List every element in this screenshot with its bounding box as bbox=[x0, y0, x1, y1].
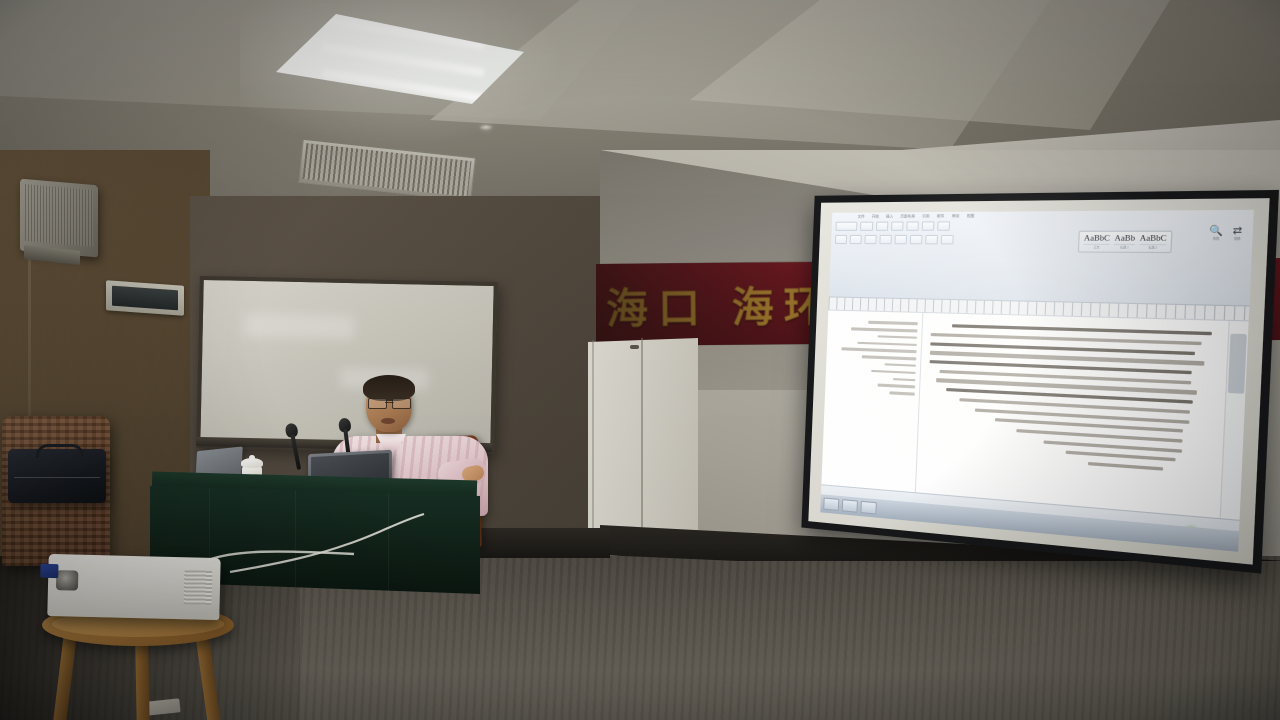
style-heading-1-label: 标题 1 bbox=[1114, 244, 1135, 250]
align-center-button[interactable] bbox=[879, 235, 891, 244]
style-normal[interactable]: AaBbC 正文 bbox=[1084, 234, 1111, 249]
underline-button[interactable] bbox=[906, 221, 919, 230]
nav-pane-line bbox=[893, 378, 916, 382]
nav-pane-line bbox=[877, 384, 915, 388]
stool-leg bbox=[135, 638, 150, 720]
align-right-button[interactable] bbox=[894, 235, 907, 244]
door-edge bbox=[592, 340, 594, 536]
door-split-line bbox=[641, 338, 643, 536]
style-heading-2-sample: AaBbC bbox=[1140, 234, 1167, 242]
style-normal-sample: AaBbC bbox=[1084, 234, 1110, 242]
projector-connector bbox=[40, 564, 58, 578]
style-heading-2-label: 标题 2 bbox=[1139, 244, 1166, 250]
ribbon-row-font[interactable] bbox=[832, 218, 1254, 233]
nav-pane-line bbox=[851, 327, 918, 332]
conference-room-photo: 海口 海环院 环境 文件 开始 插入 页面布局 bbox=[0, 0, 1280, 720]
borders-button[interactable] bbox=[925, 235, 938, 244]
wooden-stool bbox=[42, 604, 234, 720]
align-left-button[interactable] bbox=[864, 235, 876, 244]
teacup-knob bbox=[249, 455, 255, 460]
font-size-dropdown[interactable] bbox=[860, 222, 873, 231]
document-text-line bbox=[1088, 462, 1164, 471]
find-button-label: 查找 bbox=[1213, 238, 1220, 241]
skirt-fold bbox=[295, 486, 296, 594]
numbering-button[interactable] bbox=[850, 235, 862, 244]
taskbar-item[interactable] bbox=[860, 501, 876, 515]
speaker-grill bbox=[25, 184, 93, 247]
replace-button[interactable]: ⇄ 替换 bbox=[1229, 225, 1246, 241]
glasses-icon bbox=[368, 398, 411, 407]
stool-leg bbox=[52, 634, 77, 720]
ribbon-tab-file[interactable]: 文件 bbox=[858, 215, 865, 220]
line-spacing-button[interactable] bbox=[910, 235, 923, 244]
swap-icon: ⇄ bbox=[1229, 225, 1246, 236]
nav-pane-line bbox=[877, 335, 917, 339]
word-ribbon[interactable]: 文件 开始 插入 页面布局 引用 邮件 审阅 视图 bbox=[829, 210, 1254, 307]
style-heading-2[interactable]: AaBbC 标题 2 bbox=[1139, 234, 1167, 250]
wall-vent-panel-inner bbox=[112, 286, 178, 311]
navigation-pane[interactable] bbox=[821, 311, 923, 493]
nav-pane-line bbox=[868, 321, 918, 325]
scrollbar-thumb[interactable] bbox=[1228, 333, 1247, 393]
find-button[interactable]: 🔍 查找 bbox=[1208, 225, 1225, 241]
bold-button[interactable] bbox=[876, 222, 888, 231]
bag-handle bbox=[36, 444, 84, 458]
style-normal-label: 正文 bbox=[1084, 244, 1110, 250]
font-family-dropdown[interactable] bbox=[835, 222, 857, 231]
taskbar-item[interactable] bbox=[823, 497, 839, 511]
style-heading-1-sample: AaBb bbox=[1114, 234, 1135, 242]
style-gallery[interactable]: AaBbC 正文 AaBb 标题 1 AaBbC 标题 2 bbox=[1078, 231, 1173, 253]
italic-button[interactable] bbox=[891, 222, 904, 231]
skirt-fold bbox=[388, 486, 389, 594]
projector bbox=[47, 554, 220, 620]
document-text-line bbox=[1065, 451, 1175, 462]
taskbar-item[interactable] bbox=[842, 499, 858, 513]
document-text-line bbox=[1044, 440, 1182, 452]
bag-zipper bbox=[14, 477, 100, 478]
bullets-button[interactable] bbox=[835, 235, 847, 244]
door-knob-icon[interactable] bbox=[630, 345, 639, 349]
ribbon-tab-review[interactable]: 审阅 bbox=[952, 214, 960, 219]
projection-screen[interactable]: 文件 开始 插入 页面布局 引用 邮件 审阅 视图 bbox=[801, 190, 1279, 574]
ribbon-tab-mailings[interactable]: 邮件 bbox=[937, 214, 945, 219]
nav-pane-line bbox=[842, 348, 917, 353]
ribbon-tab-references[interactable]: 引用 bbox=[922, 214, 930, 219]
search-icon: 🔍 bbox=[1208, 225, 1225, 236]
white-double-door[interactable] bbox=[588, 338, 698, 538]
ribbon-tab-home[interactable]: 开始 bbox=[872, 214, 879, 219]
word-window[interactable]: 文件 开始 插入 页面布局 引用 邮件 审阅 视图 bbox=[820, 210, 1254, 552]
highlight-button[interactable] bbox=[937, 221, 950, 230]
replace-button-label: 替换 bbox=[1234, 238, 1241, 241]
style-heading-1[interactable]: AaBb 标题 1 bbox=[1114, 234, 1135, 250]
ribbon-tab-view[interactable]: 视图 bbox=[967, 214, 975, 219]
glasses-lens-right bbox=[392, 398, 411, 409]
document-page[interactable] bbox=[916, 313, 1228, 518]
projector-lens-icon bbox=[56, 570, 78, 591]
ribbon-row-paragraph[interactable] bbox=[831, 233, 1253, 248]
glasses-lens-left bbox=[368, 398, 387, 409]
word-document-area[interactable] bbox=[821, 311, 1248, 520]
nav-pane-line bbox=[861, 355, 916, 360]
nav-pane-line bbox=[871, 370, 916, 375]
shading-button[interactable] bbox=[941, 235, 954, 244]
projector-vent bbox=[184, 570, 213, 605]
stool-leg bbox=[195, 634, 221, 720]
ribbon-editing-group[interactable]: 🔍 查找 ⇄ 替换 bbox=[1208, 225, 1246, 241]
laptop-bag bbox=[8, 449, 106, 503]
projection-screen-surface: 文件 开始 插入 页面布局 引用 邮件 审阅 视图 bbox=[820, 210, 1254, 552]
nav-pane-line bbox=[885, 363, 916, 367]
nav-pane-line bbox=[857, 341, 917, 346]
speaker-mouth bbox=[381, 418, 395, 424]
ribbon-tab-insert[interactable]: 插入 bbox=[886, 214, 893, 219]
font-color-button[interactable] bbox=[922, 221, 935, 230]
ribbon-tab-layout[interactable]: 页面布局 bbox=[900, 214, 915, 219]
nav-pane-line bbox=[889, 391, 915, 395]
projection-screen-mat: 文件 开始 插入 页面布局 引用 邮件 审阅 视图 bbox=[808, 198, 1269, 565]
whiteboard-smudge bbox=[243, 314, 354, 339]
wall-vent-panel bbox=[106, 280, 184, 315]
downlight-icon bbox=[480, 125, 492, 130]
